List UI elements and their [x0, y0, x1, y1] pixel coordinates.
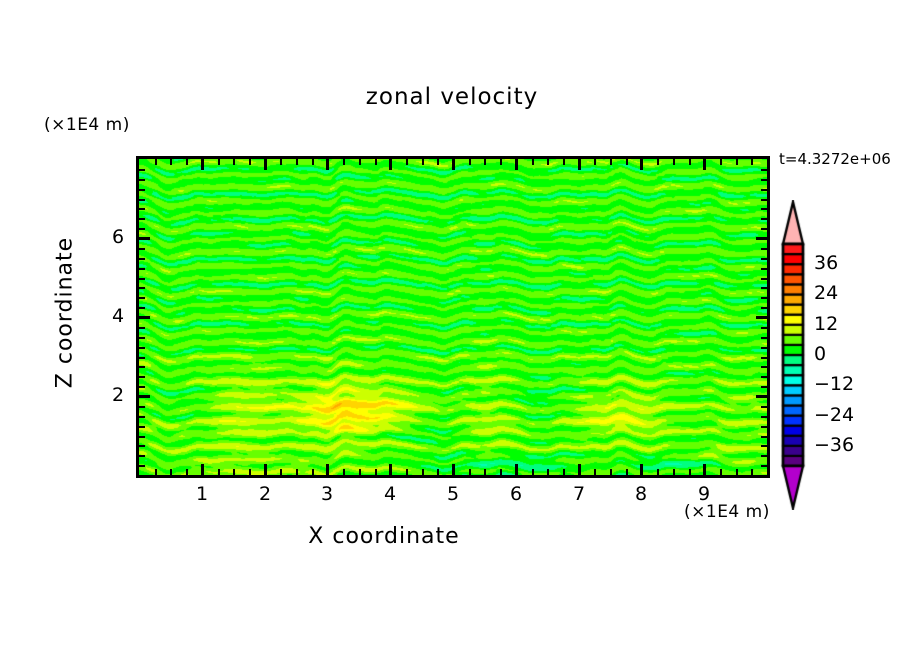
axis-tick: [761, 445, 767, 447]
axis-tick: [155, 159, 157, 165]
axis-tick: [139, 406, 145, 408]
y-tick-label: 2: [112, 384, 124, 406]
axis-tick: [422, 469, 424, 475]
axis-tick: [452, 464, 455, 475]
axis-tick: [139, 327, 145, 329]
axis-tick: [761, 376, 767, 378]
axis-tick: [139, 169, 145, 171]
colorbar-tick-label: 12: [814, 313, 838, 335]
axis-tick: [756, 237, 767, 240]
axis-tick: [437, 159, 439, 165]
axis-tick: [139, 268, 145, 270]
x-tick-label: 1: [196, 483, 208, 505]
axis-tick: [264, 464, 267, 475]
axis-tick: [375, 469, 377, 475]
axis-tick: [389, 464, 392, 475]
axis-tick: [761, 248, 767, 250]
axis-tick: [547, 159, 549, 165]
axis-tick: [761, 426, 767, 428]
axis-tick: [761, 297, 767, 299]
plot-area: [136, 156, 770, 478]
axis-tick: [469, 159, 471, 165]
axis-tick: [761, 406, 767, 408]
axis-tick: [761, 228, 767, 230]
axis-tick: [139, 357, 145, 359]
axis-tick: [249, 469, 251, 475]
axis-tick: [657, 469, 659, 475]
axis-tick: [139, 199, 145, 201]
x-axis-units-label: (×1E4 m): [684, 502, 770, 522]
axis-tick: [343, 159, 345, 165]
axis-tick: [139, 218, 145, 220]
axis-tick: [326, 159, 329, 170]
axis-tick: [736, 469, 738, 475]
axis-tick: [139, 426, 145, 428]
axis-tick: [233, 159, 235, 165]
axis-tick: [610, 469, 612, 475]
axis-tick: [201, 464, 204, 475]
axis-tick: [689, 469, 691, 475]
page-title: zonal velocity: [0, 84, 904, 110]
contour-field: [139, 159, 767, 475]
axis-tick: [469, 469, 471, 475]
colorbar-tick-label: −24: [814, 404, 854, 426]
axis-tick: [139, 337, 145, 339]
axis-tick: [139, 179, 145, 181]
axis-tick: [139, 208, 145, 210]
axis-tick: [139, 258, 145, 260]
axis-tick: [761, 258, 767, 260]
axis-tick: [139, 297, 145, 299]
axis-tick: [720, 159, 722, 165]
axis-tick: [640, 159, 643, 170]
colorbar: [780, 200, 806, 510]
axis-tick: [406, 469, 408, 475]
axis-tick: [515, 464, 518, 475]
axis-tick: [484, 469, 486, 475]
axis-tick: [139, 455, 145, 457]
x-tick-label: 7: [573, 483, 585, 505]
axis-tick: [761, 366, 767, 368]
axis-tick: [139, 189, 145, 191]
axis-tick: [761, 347, 767, 349]
x-tick-label: 6: [510, 483, 522, 505]
axis-tick: [761, 465, 767, 467]
axis-tick: [673, 469, 675, 475]
axis-tick: [326, 464, 329, 475]
colorbar-gradient: [780, 200, 806, 510]
axis-tick: [359, 469, 361, 475]
colorbar-tick-label: 36: [814, 252, 838, 274]
axis-tick: [139, 307, 145, 309]
axis-tick: [186, 159, 188, 165]
axis-tick: [218, 159, 220, 165]
x-tick-label: 8: [635, 483, 647, 505]
axis-tick: [761, 218, 767, 220]
axis-tick: [761, 208, 767, 210]
colorbar-tick-label: 24: [814, 282, 838, 304]
colorbar-tick-label: −12: [814, 373, 854, 395]
axis-tick: [761, 199, 767, 201]
axis-tick: [139, 376, 145, 378]
axis-tick: [249, 159, 251, 165]
axis-tick: [139, 436, 145, 438]
axis-tick: [563, 159, 565, 165]
axis-tick: [578, 464, 581, 475]
axis-tick: [264, 159, 267, 170]
axis-tick: [406, 159, 408, 165]
y-axis-label: Z coordinate: [53, 213, 78, 413]
axis-tick: [280, 469, 282, 475]
axis-tick: [756, 316, 767, 319]
axis-tick: [761, 268, 767, 270]
axis-tick: [761, 436, 767, 438]
axis-tick: [610, 159, 612, 165]
axis-tick: [312, 469, 314, 475]
axis-tick: [296, 159, 298, 165]
axis-tick: [761, 287, 767, 289]
axis-tick: [500, 159, 502, 165]
axis-tick: [170, 159, 172, 165]
axis-tick: [657, 159, 659, 165]
axis-tick: [139, 316, 150, 319]
axis-tick: [547, 469, 549, 475]
axis-tick: [761, 169, 767, 171]
axis-tick: [761, 337, 767, 339]
axis-tick: [532, 159, 534, 165]
axis-tick: [751, 469, 753, 475]
axis-tick: [359, 159, 361, 165]
axis-tick: [186, 469, 188, 475]
axis-tick: [280, 159, 282, 165]
axis-tick: [139, 287, 145, 289]
axis-tick: [756, 395, 767, 398]
axis-tick: [761, 278, 767, 280]
colorbar-tick-label: −36: [814, 434, 854, 456]
x-tick-label: 9: [698, 483, 710, 505]
axis-tick: [515, 159, 518, 170]
axis-tick: [139, 465, 145, 467]
axis-tick: [761, 179, 767, 181]
x-tick-label: 4: [384, 483, 396, 505]
axis-tick: [139, 228, 145, 230]
axis-tick: [452, 159, 455, 170]
axis-tick: [640, 464, 643, 475]
axis-tick: [139, 248, 145, 250]
axis-tick: [233, 469, 235, 475]
colorbar-tick-label: 0: [814, 343, 826, 365]
axis-tick: [626, 159, 628, 165]
y-axis-units-label: (×1E4 m): [44, 115, 130, 135]
x-tick-label: 3: [321, 483, 333, 505]
axis-tick: [139, 366, 145, 368]
axis-tick: [578, 159, 581, 170]
axis-tick: [139, 237, 150, 240]
axis-tick: [761, 416, 767, 418]
axis-tick: [563, 469, 565, 475]
axis-tick: [594, 469, 596, 475]
axis-tick: [761, 327, 767, 329]
axis-tick: [761, 189, 767, 191]
axis-tick: [312, 159, 314, 165]
axis-tick: [626, 469, 628, 475]
axis-tick: [170, 469, 172, 475]
axis-tick: [343, 469, 345, 475]
axis-tick: [139, 347, 145, 349]
axis-tick: [484, 159, 486, 165]
axis-tick: [218, 469, 220, 475]
axis-tick: [422, 159, 424, 165]
axis-tick: [500, 469, 502, 475]
axis-tick: [689, 159, 691, 165]
y-tick-label: 4: [112, 305, 124, 327]
axis-tick: [761, 386, 767, 388]
y-tick-label: 6: [112, 226, 124, 248]
x-tick-label: 2: [259, 483, 271, 505]
axis-tick: [751, 159, 753, 165]
axis-tick: [389, 159, 392, 170]
axis-tick: [736, 159, 738, 165]
axis-tick: [761, 307, 767, 309]
axis-tick: [296, 469, 298, 475]
axis-tick: [139, 416, 145, 418]
axis-tick: [703, 159, 706, 170]
x-tick-label: 5: [447, 483, 459, 505]
axis-tick: [761, 357, 767, 359]
axis-tick: [139, 278, 145, 280]
time-annotation: t=4.3272e+06: [779, 150, 891, 168]
axis-tick: [139, 386, 145, 388]
axis-tick: [761, 455, 767, 457]
x-axis-label: X coordinate: [0, 524, 768, 549]
axis-tick: [703, 464, 706, 475]
axis-tick: [720, 469, 722, 475]
axis-tick: [673, 159, 675, 165]
contour-plot-figure: zonal velocity (×1E4 m) (×1E4 m) t=4.327…: [0, 0, 904, 654]
axis-tick: [594, 159, 596, 165]
axis-tick: [139, 395, 150, 398]
axis-tick: [201, 159, 204, 170]
axis-tick: [375, 159, 377, 165]
axis-tick: [437, 469, 439, 475]
axis-tick: [532, 469, 534, 475]
axis-tick: [155, 469, 157, 475]
axis-tick: [139, 445, 145, 447]
